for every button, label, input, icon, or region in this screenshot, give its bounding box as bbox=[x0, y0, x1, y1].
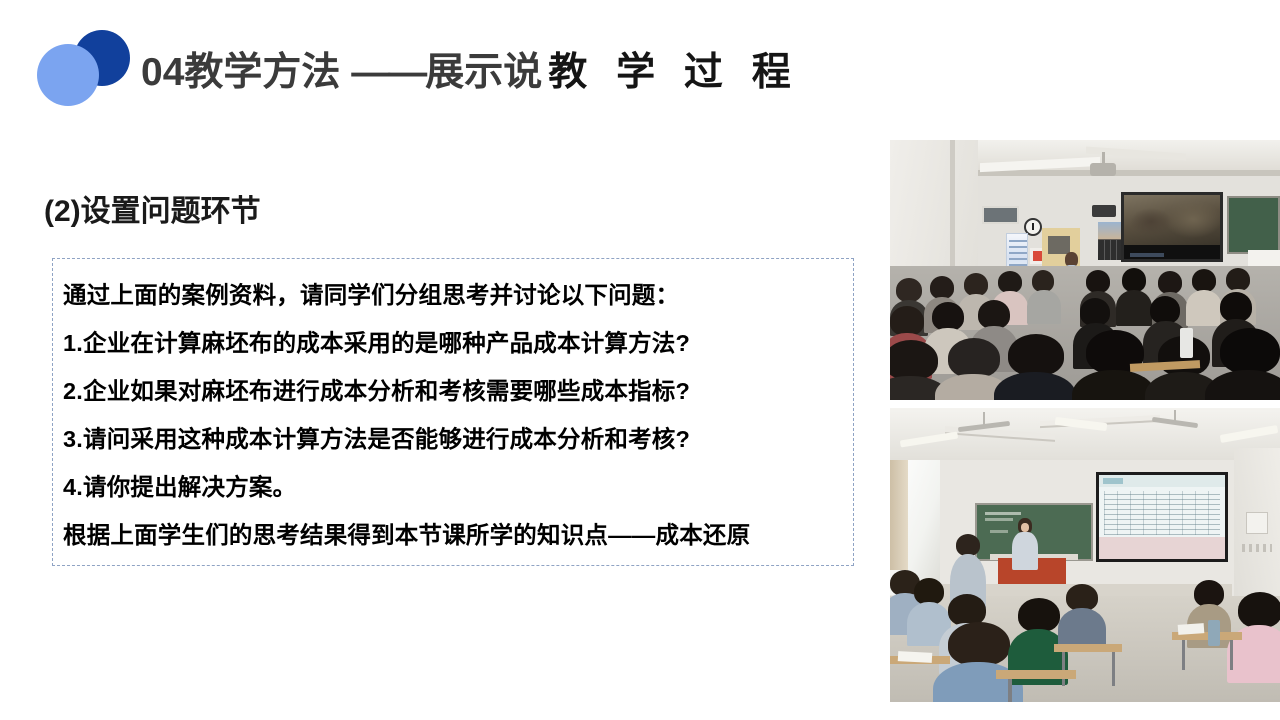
circle-light-icon bbox=[37, 44, 99, 106]
question-line-1: 1.企业在计算麻坯布的成本采用的是哪种产品成本计算方法? bbox=[63, 319, 853, 367]
decorative-circles bbox=[33, 30, 143, 110]
question-line-4: 4.请你提出解决方案。 bbox=[63, 463, 853, 511]
question-line-3: 3.请问采用这种成本计算方法是否能够进行成本分析和考核? bbox=[63, 415, 853, 463]
page-title-tail: 教 学 过 程 bbox=[548, 51, 800, 94]
page-title: 04教学方法 ——展示说教 学 过 程 bbox=[141, 47, 800, 99]
page-title-main: 教学方法 bbox=[184, 51, 351, 94]
page-title-dash: —— bbox=[351, 51, 425, 94]
photo-top-scene bbox=[890, 140, 1280, 400]
water-bottle bbox=[1180, 328, 1193, 358]
slide-header: 04教学方法 ——展示说教 学 过 程 bbox=[0, 0, 880, 135]
page-title-number: 04 bbox=[141, 51, 184, 94]
photo-classroom-lecture-top bbox=[890, 140, 1280, 400]
section-subheading: (2)设置问题环节 bbox=[44, 192, 261, 232]
water-bottle bbox=[1208, 620, 1220, 646]
question-line-2: 2.企业如果对麻坯布进行成本分析和考核需要哪些成本指标? bbox=[63, 367, 853, 415]
photo-bottom-scene bbox=[890, 408, 1280, 702]
question-box: 通过上面的案例资料，请同学们分组思考并讨论以下问题： 1.企业在计算麻坯布的成本… bbox=[52, 258, 854, 566]
slide-root: 04教学方法 ——展示说教 学 过 程 (2)设置问题环节 通过上面的案例资料，… bbox=[0, 0, 1280, 720]
page-title-mid: 展示说 bbox=[425, 51, 542, 94]
question-line-summary: 根据上面学生们的思考结果得到本节课所学的知识点——成本还原 bbox=[63, 511, 853, 559]
photo-classroom-lecture-bottom bbox=[890, 408, 1280, 702]
question-line-intro: 通过上面的案例资料，请同学们分组思考并讨论以下问题： bbox=[63, 271, 853, 319]
